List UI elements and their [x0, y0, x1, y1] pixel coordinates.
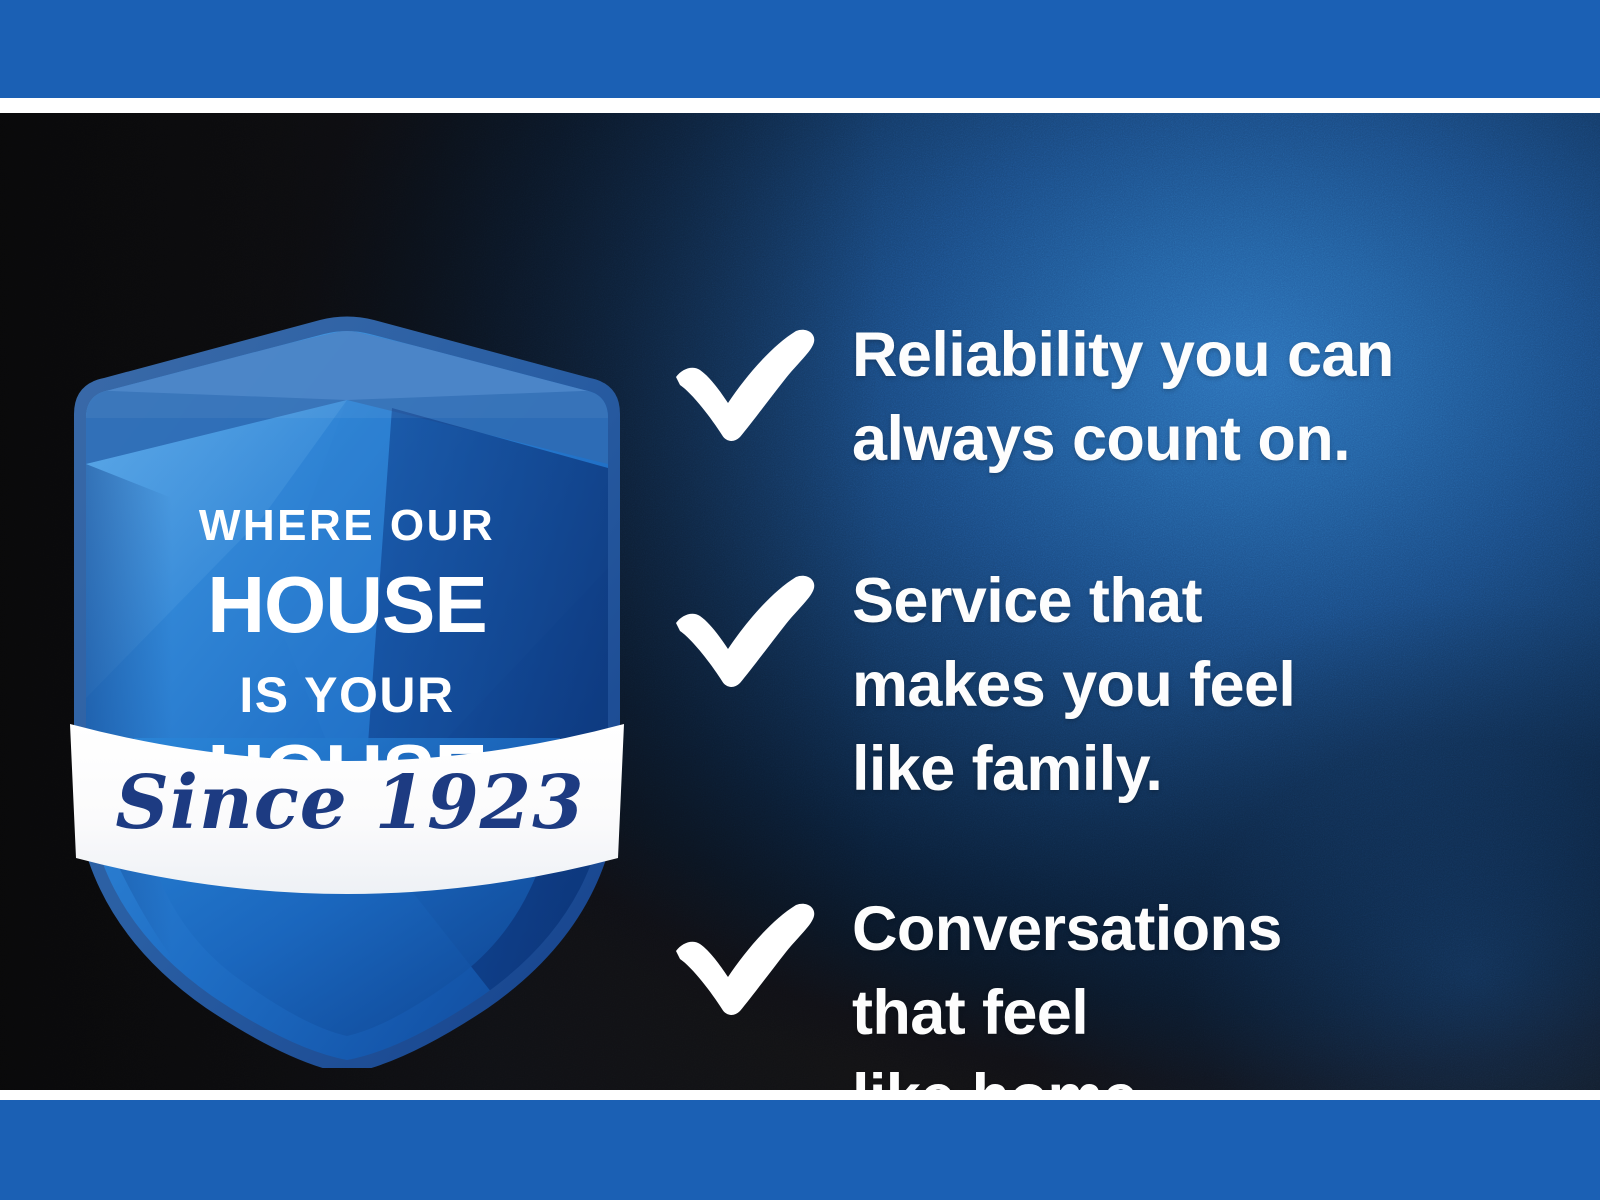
list-item-line: Conversations	[852, 887, 1532, 971]
list-item-text: Reliability you canalways count on.	[852, 313, 1532, 481]
list-item-text: Service thatmakes you feellike family.	[852, 559, 1532, 811]
list-item: Conversationsthat feellike home.	[672, 887, 1532, 1090]
list-item-line: Service that	[852, 559, 1532, 643]
bottom-brand-bar	[0, 1100, 1600, 1200]
list-item-line: like home.	[852, 1055, 1532, 1090]
list-item-line: that feel	[852, 971, 1532, 1055]
main-stage: WHERE OUR HOUSE IS YOUR HOUSE Since 1923…	[0, 113, 1600, 1090]
benefits-list: Reliability you canalways count on. Serv…	[672, 313, 1532, 1090]
list-item-line: Reliability you can	[852, 313, 1532, 397]
checkmark-icon	[672, 575, 820, 687]
list-item-line: always count on.	[852, 397, 1532, 481]
promo-graphic: WHERE OUR HOUSE IS YOUR HOUSE Since 1923…	[0, 0, 1600, 1200]
shield-line-3: IS YOUR	[239, 667, 454, 723]
checkmark-icon	[672, 903, 820, 1015]
list-item-text: Conversationsthat feellike home.	[852, 887, 1532, 1090]
shield-badge: WHERE OUR HOUSE IS YOUR HOUSE Since 1923	[62, 268, 632, 1068]
list-item: Reliability you canalways count on.	[672, 313, 1532, 481]
checkmark-icon	[672, 329, 820, 441]
list-item: Service thatmakes you feellike family.	[672, 559, 1532, 811]
list-item-line: makes you feel	[852, 643, 1532, 727]
shield-line-2: HOUSE	[207, 560, 487, 649]
list-item-line: like family.	[852, 727, 1532, 811]
ribbon-text: Since 1923	[115, 760, 584, 846]
shield-line-1: WHERE OUR	[199, 501, 495, 550]
top-brand-bar	[0, 0, 1600, 98]
